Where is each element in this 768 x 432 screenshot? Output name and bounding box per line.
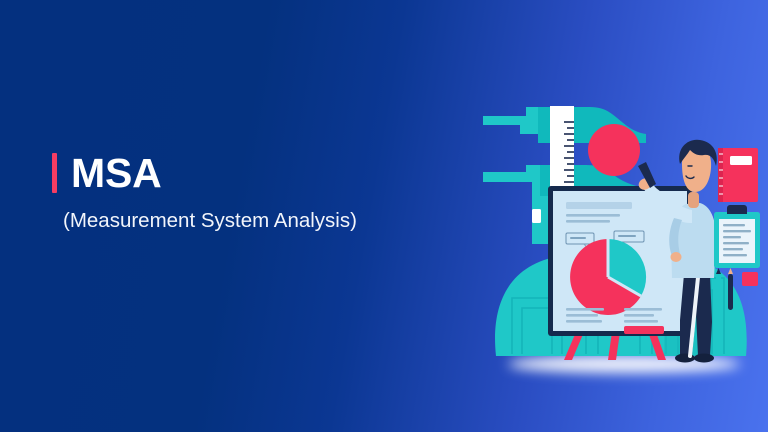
person-hand-lower	[671, 252, 682, 262]
red-dot-icon	[588, 124, 640, 176]
pie-chart	[570, 239, 646, 315]
person-neck	[688, 192, 699, 208]
measurement-system-analysis-illustration	[466, 92, 768, 392]
person-shoe-right	[694, 354, 714, 363]
title-row: MSA	[52, 148, 452, 198]
caliper-slider-window	[532, 209, 541, 223]
caliper-lower-jaw	[483, 165, 550, 244]
accent-bar	[52, 153, 57, 193]
eraser-icon	[742, 272, 758, 286]
page-title: MSA	[71, 153, 162, 194]
board-tray	[624, 326, 664, 334]
heading-block: MSA (Measurement System Analysis)	[52, 148, 452, 233]
red-notebook	[718, 148, 758, 202]
clipboard	[714, 205, 760, 268]
msa-banner: MSA (Measurement System Analysis)	[0, 0, 768, 432]
page-subtitle: (Measurement System Analysis)	[63, 209, 452, 233]
